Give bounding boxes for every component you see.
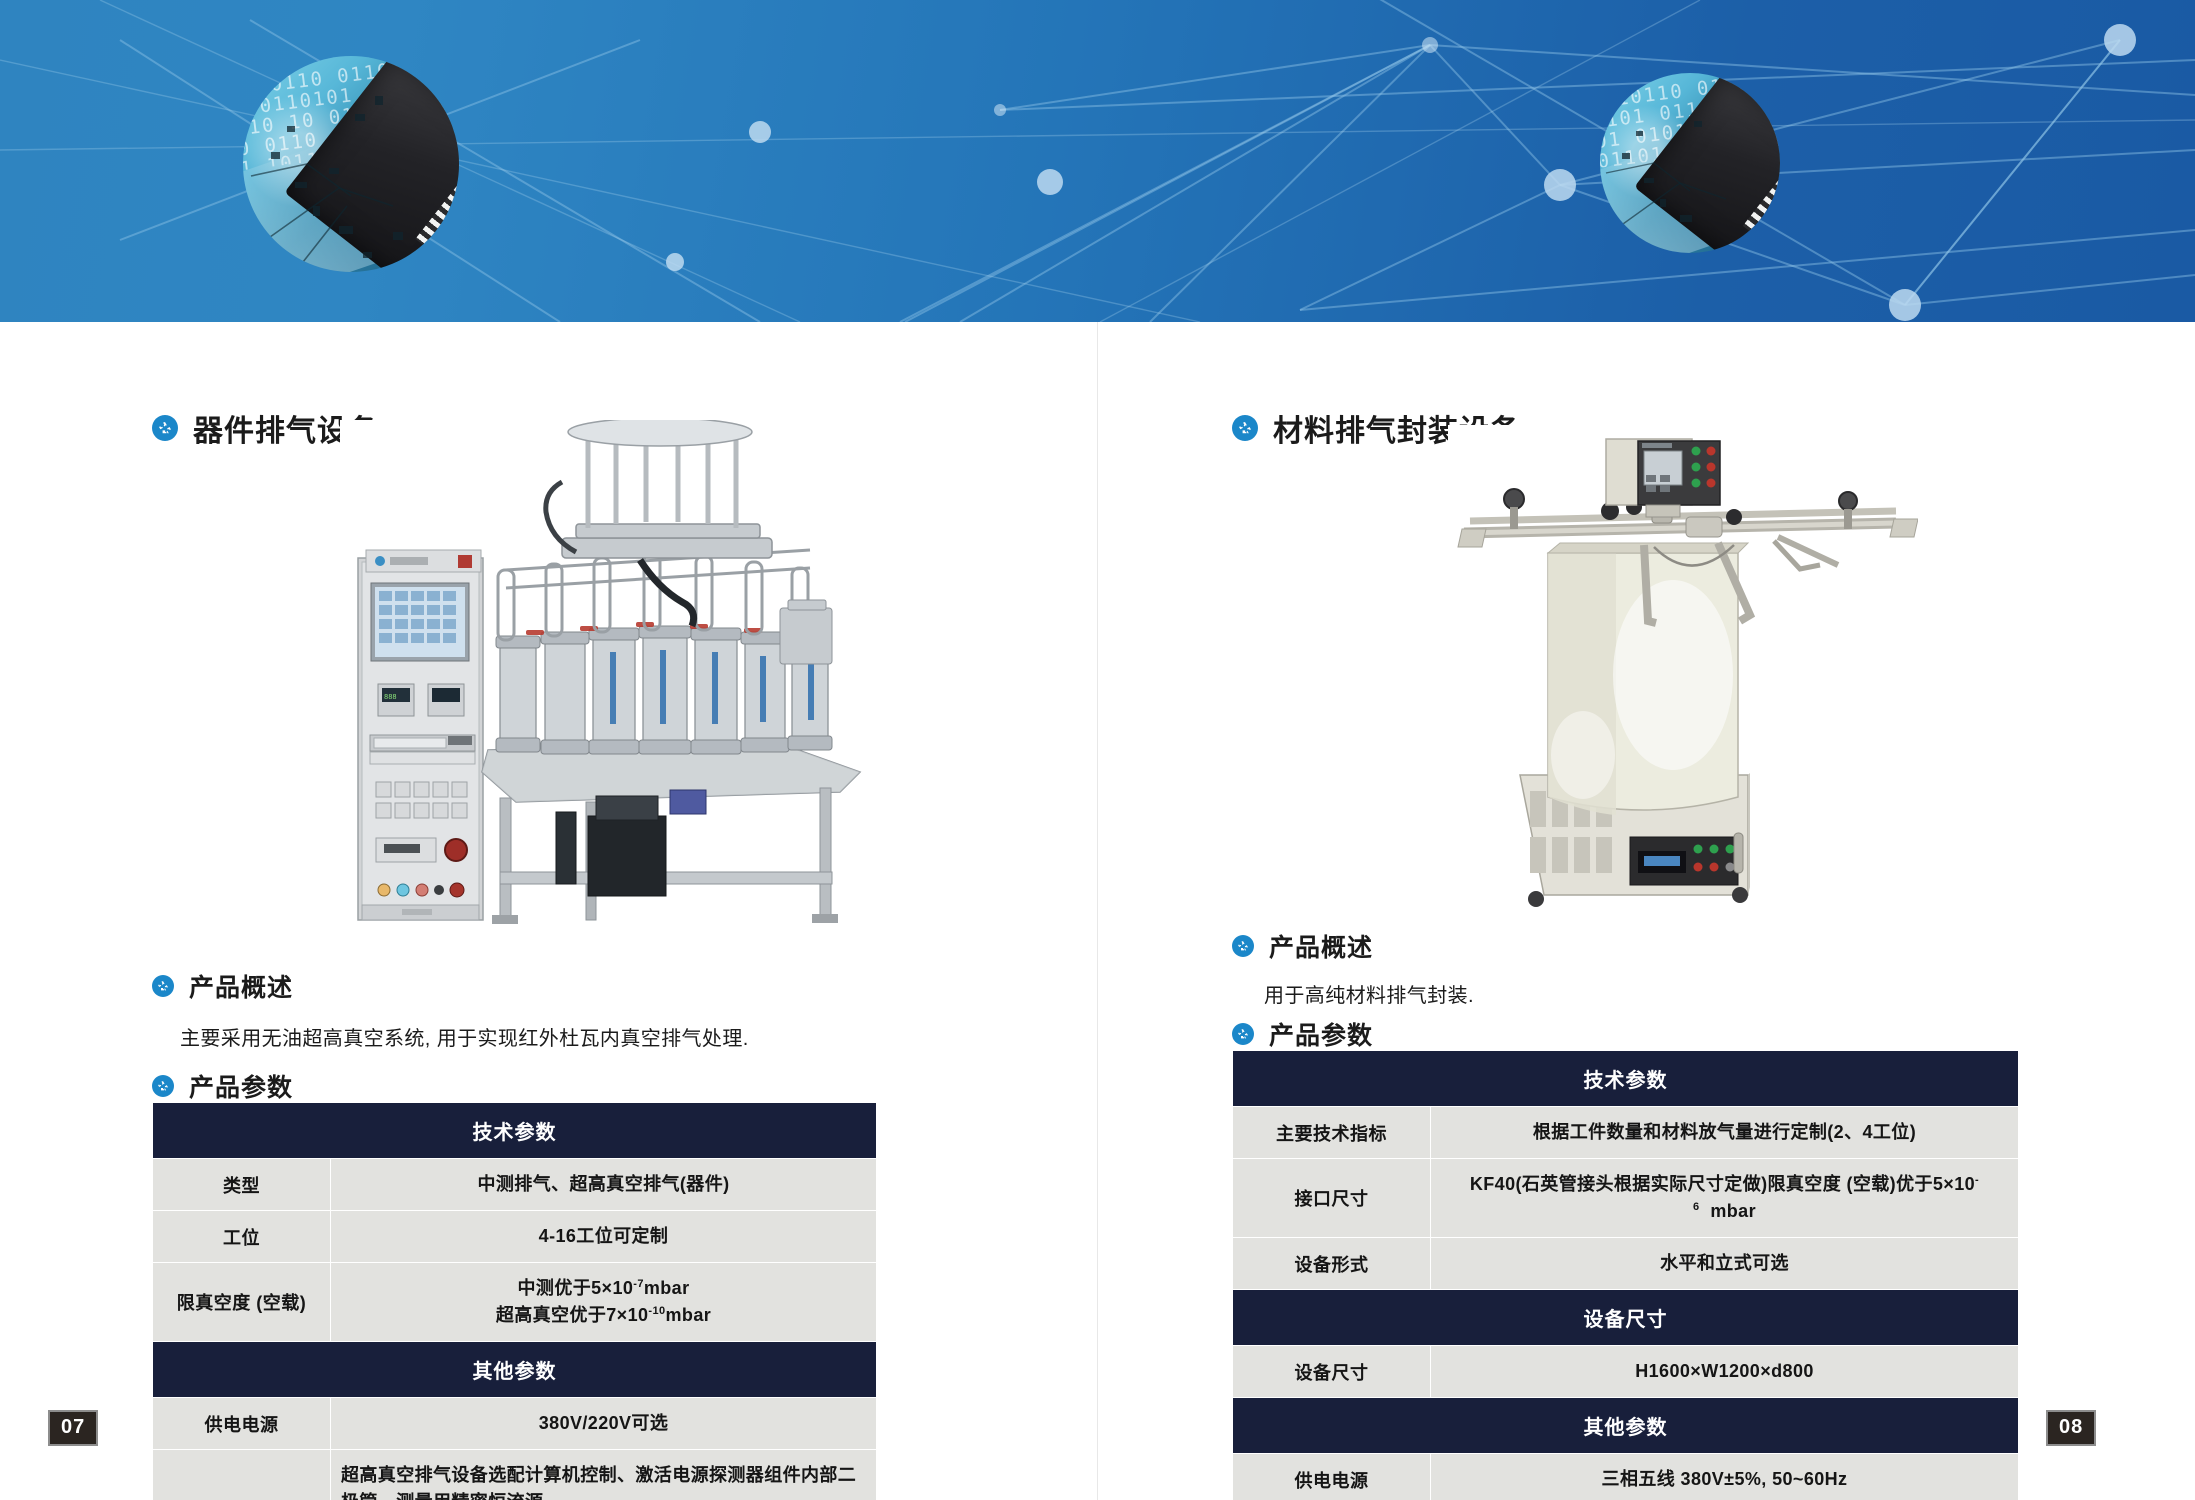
page-spine bbox=[1097, 322, 1098, 1500]
recycle-icon bbox=[1232, 1023, 1254, 1045]
circuit-specks-right bbox=[1600, 73, 1780, 253]
vacuum-line-2: 超高真空优于7×10-10mbar bbox=[496, 1305, 711, 1325]
band-tech: 技术参数 bbox=[1233, 1051, 2019, 1107]
recycle-icon bbox=[1232, 935, 1254, 957]
hero-banner: 1010110 01101 10101 0110101 1001 010110 … bbox=[0, 0, 2195, 322]
row-value-vacuum: 中测优于5×10-7mbar 超高真空优于7×10-10mbar bbox=[331, 1263, 877, 1342]
row-label: 主要技术指标 bbox=[1233, 1107, 1431, 1159]
svg-text:888: 888 bbox=[384, 694, 397, 702]
band-other: 其他参数 bbox=[1233, 1398, 2019, 1454]
row-label: 限真空度 (空载) bbox=[153, 1263, 331, 1342]
table-row: 类型 中测排气、超高真空排气(器件) bbox=[153, 1159, 877, 1211]
table-row: 接口尺寸 KF40(石英管接头根据实际尺寸定做)限真空度 (空载)优于5×10-… bbox=[1233, 1159, 2019, 1238]
row-label: 设备尺寸 bbox=[1233, 1346, 1431, 1398]
left-params-heading: 产品参数 bbox=[152, 1068, 293, 1104]
row-value: 水平和立式可选 bbox=[1431, 1238, 2019, 1290]
row-label: 类型 bbox=[153, 1159, 331, 1211]
table-row: 工位 4-16工位可定制 bbox=[153, 1211, 877, 1263]
band-other: 其他参数 bbox=[153, 1342, 877, 1398]
left-params-heading-text: 产品参数 bbox=[189, 1068, 293, 1104]
row-value: 中测排气、超高真空排气(器件) bbox=[331, 1159, 877, 1211]
left-overview-heading-text: 产品概述 bbox=[189, 968, 293, 1004]
table-row: 设备尺寸 H1600×W1200×d800 bbox=[1233, 1346, 2019, 1398]
table-row: 限真空度 (空载) 中测优于5×10-7mbar 超高真空优于7×10-10mb… bbox=[153, 1263, 877, 1342]
banner-circle-image-left: 1010110 01101 10101 0110101 1001 010110 … bbox=[243, 56, 459, 272]
right-params-heading: 产品参数 bbox=[1232, 1016, 1373, 1052]
row-label-empty bbox=[153, 1450, 331, 1500]
row-value: 4-16工位可定制 bbox=[331, 1211, 877, 1263]
row-label: 供电电源 bbox=[153, 1398, 331, 1450]
table-band-row: 技术参数 bbox=[1233, 1051, 2019, 1107]
row-value-note: 超高真空排气设备选配计算机控制、激活电源探测器组件内部二极管、测量用精密恒流源 bbox=[331, 1450, 877, 1500]
left-equipment-photo: 888 bbox=[340, 420, 900, 940]
table-band-row: 技术参数 bbox=[153, 1103, 877, 1159]
banner-circle-image-right: 1010110 01101 10101 0110101 1001 010110 … bbox=[1600, 73, 1780, 253]
brochure-page: 1010110 01101 10101 0110101 1001 010110 … bbox=[0, 0, 2195, 1500]
right-overview-heading-text: 产品概述 bbox=[1269, 928, 1373, 964]
row-label: 设备形式 bbox=[1233, 1238, 1431, 1290]
table-band-row: 设备尺寸 bbox=[1233, 1290, 2019, 1346]
row-value: H1600×W1200×d800 bbox=[1431, 1346, 2019, 1398]
table-band-row: 其他参数 bbox=[153, 1342, 877, 1398]
left-params-table: 技术参数 类型 中测排气、超高真空排气(器件) 工位 4-16工位可定制 限真空… bbox=[152, 1102, 877, 1500]
vacuum-line-1: 中测优于5×10-7mbar bbox=[518, 1278, 690, 1298]
band-tech: 技术参数 bbox=[153, 1103, 877, 1159]
right-equipment-photo bbox=[1448, 425, 1918, 915]
recycle-icon bbox=[152, 975, 174, 997]
left-overview-heading: 产品概述 bbox=[152, 968, 293, 1004]
right-overview-heading: 产品概述 bbox=[1232, 928, 1373, 964]
table-row: 超高真空排气设备选配计算机控制、激活电源探测器组件内部二极管、测量用精密恒流源 bbox=[153, 1450, 877, 1500]
recycle-icon bbox=[1232, 415, 1258, 441]
band-size: 设备尺寸 bbox=[1233, 1290, 2019, 1346]
row-label: 供电电源 bbox=[1233, 1454, 1431, 1500]
circuit-specks bbox=[243, 56, 459, 272]
recycle-icon bbox=[152, 1075, 174, 1097]
row-value-interface: KF40(石英管接头根据实际尺寸定做)限真空度 (空载)优于5×10-6 mba… bbox=[1431, 1159, 2019, 1238]
left-overview-text: 主要采用无油超高真空系统, 用于实现红外杜瓦内真空排气处理. bbox=[180, 1022, 749, 1051]
right-params-heading-text: 产品参数 bbox=[1269, 1016, 1373, 1052]
table-row: 主要技术指标 根据工件数量和材料放气量进行定制(2、4工位) bbox=[1233, 1107, 2019, 1159]
right-overview-text: 用于高纯材料排气封装. bbox=[1264, 979, 1474, 1008]
row-value: 380V/220V可选 bbox=[331, 1398, 877, 1450]
row-value: 三相五线 380V±5%, 50~60Hz bbox=[1431, 1454, 2019, 1500]
table-band-row: 其他参数 bbox=[1233, 1398, 2019, 1454]
table-row: 供电电源 380V/220V可选 bbox=[153, 1398, 877, 1450]
table-row: 供电电源 三相五线 380V±5%, 50~60Hz bbox=[1233, 1454, 2019, 1500]
page-number-badge-right: 08 bbox=[2046, 1410, 2096, 1446]
row-label: 接口尺寸 bbox=[1233, 1159, 1431, 1238]
row-label: 工位 bbox=[153, 1211, 331, 1263]
right-params-table: 技术参数 主要技术指标 根据工件数量和材料放气量进行定制(2、4工位) 接口尺寸… bbox=[1232, 1050, 2019, 1500]
recycle-icon bbox=[152, 415, 178, 441]
page-number-badge-left: 07 bbox=[48, 1410, 98, 1446]
table-row: 设备形式 水平和立式可选 bbox=[1233, 1238, 2019, 1290]
row-value: 根据工件数量和材料放气量进行定制(2、4工位) bbox=[1431, 1107, 2019, 1159]
